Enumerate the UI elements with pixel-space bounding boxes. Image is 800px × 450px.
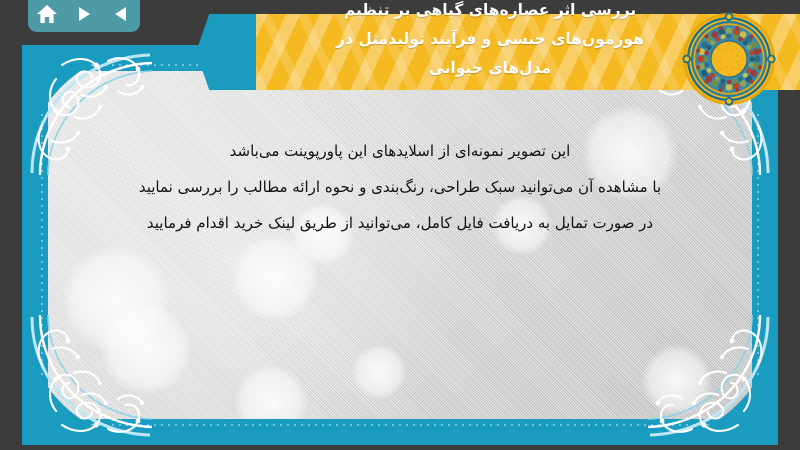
- previous-button[interactable]: [107, 1, 135, 27]
- slide-title-banner: بررسی اثر عصاره‌های گیاهی بر تنظیم هورمو…: [196, 0, 800, 108]
- body-line: با مشاهده آن می‌توانید سبک طراحی، رنگ‌بن…: [100, 169, 700, 205]
- bokeh-circle: [352, 345, 406, 399]
- bokeh-circle: [642, 345, 712, 415]
- next-button[interactable]: [70, 1, 98, 27]
- triangle-right-icon: [74, 4, 94, 24]
- title-line: مدل‌های حیوانی: [230, 54, 750, 83]
- body-line: این تصویر نمونه‌ای از اسلایدهای این پاور…: [100, 133, 700, 169]
- body-line: در صورت تمایل به دریافت فایل کامل، می‌تو…: [100, 205, 700, 241]
- slide-title: بررسی اثر عصاره‌های گیاهی بر تنظیم هورمو…: [230, 0, 750, 83]
- persian-medallion-ornament: [682, 12, 776, 106]
- home-button[interactable]: [33, 1, 61, 27]
- title-line: بررسی اثر عصاره‌های گیاهی بر تنظیم: [230, 0, 750, 25]
- frame-band-left: [22, 45, 48, 445]
- player-controls: [28, 0, 140, 32]
- title-line: هورمون‌های جنسی و فرآیند تولیدمثل در: [230, 25, 750, 54]
- presentation-viewer: این تصویر نمونه‌ای از اسلایدهای این پاور…: [0, 0, 800, 450]
- bokeh-circle: [234, 365, 308, 439]
- home-icon: [36, 4, 58, 24]
- bokeh-circle: [100, 303, 192, 395]
- slide-body-text: این تصویر نمونه‌ای از اسلایدهای این پاور…: [100, 133, 700, 241]
- frame-band-bottom: [22, 419, 778, 445]
- triangle-left-icon: [111, 4, 131, 24]
